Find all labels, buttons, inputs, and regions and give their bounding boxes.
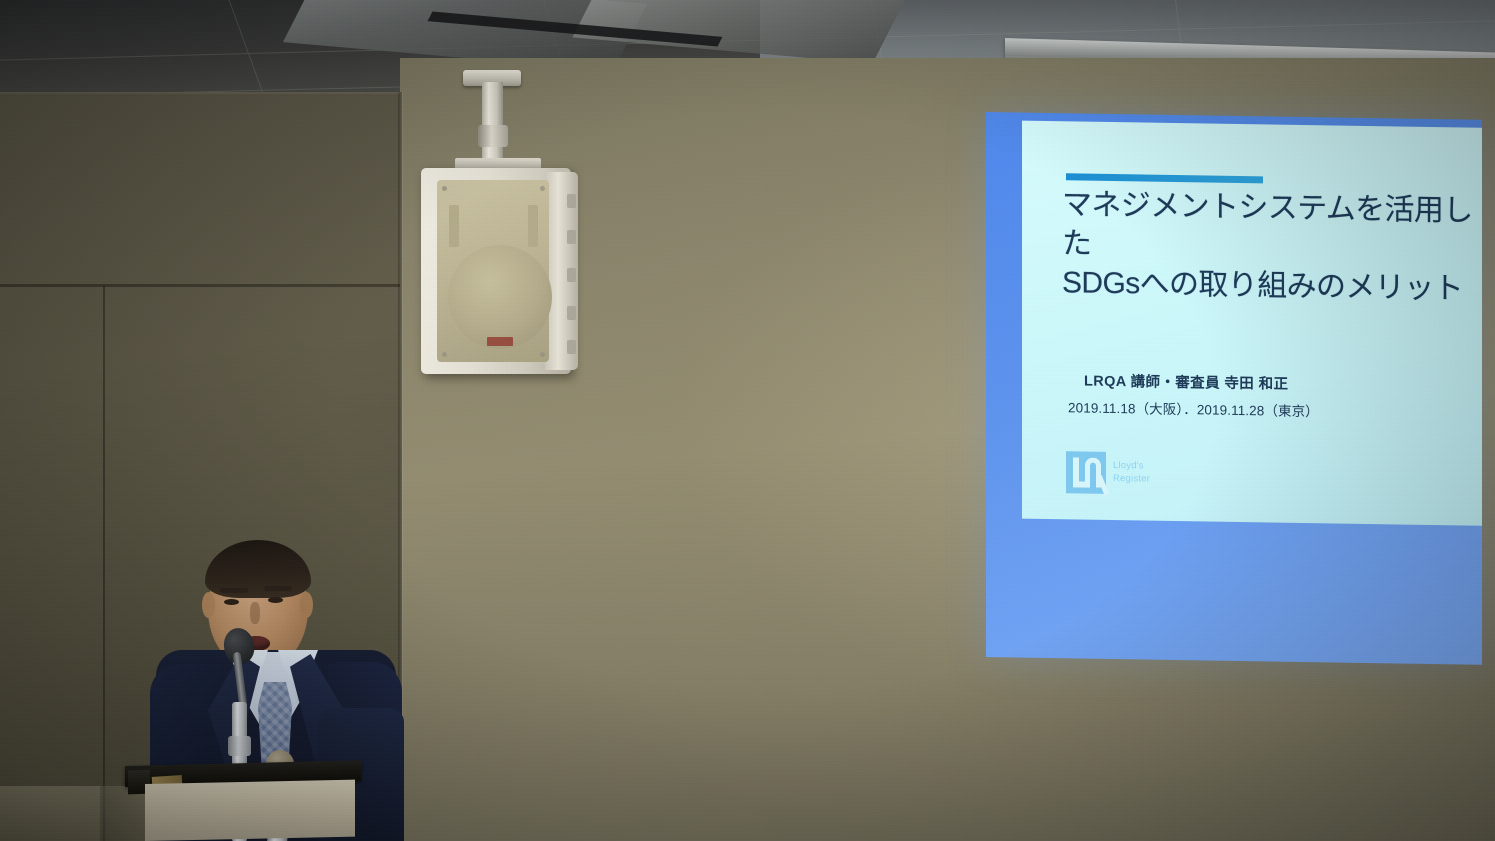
pa-speaker-port: [449, 205, 459, 247]
presenter-ear-right: [300, 592, 313, 618]
speaker-mount-pole: [482, 82, 503, 164]
slide-dates-line: 2019.11.18（大阪）．2019.11.28（東京）: [1068, 396, 1319, 420]
speaker-screw: [540, 352, 545, 357]
slide-accent-rule: [1066, 173, 1263, 183]
microphone-stand-joint: [228, 736, 251, 756]
speaker-screw: [540, 186, 545, 191]
slide-title-line1: マネジメントシステムを活用した: [1062, 188, 1473, 260]
slide-card: マネジメントシステムを活用した SDGsへの取り組みのメリット LRQA 講師・…: [1022, 121, 1482, 526]
pa-speaker-woofer-cone: [448, 245, 552, 349]
wall-panel-seam: [103, 286, 105, 841]
speaker-mount-joint: [478, 125, 508, 147]
presenter-eyebrow-left: [220, 588, 248, 593]
pa-speaker-brand-logo: [487, 337, 513, 346]
presentation-photo: マネジメントシステムを活用した SDGsへの取り組みのメリット LRQA 講師・…: [0, 0, 1495, 841]
lr-monogram-icon: [1066, 451, 1106, 494]
presenter-nose: [250, 602, 260, 624]
logo-name-line2: Register: [1113, 473, 1150, 486]
pa-speaker-port: [528, 205, 538, 247]
presenter-ear-left: [202, 592, 215, 618]
speaker-screw: [442, 186, 447, 191]
presenter-eyebrow-right: [264, 586, 292, 591]
slide-title-line2: SDGsへの取り組みのメリット: [1062, 263, 1474, 308]
projected-screen: マネジメントシステムを活用した SDGsへの取り組みのメリット LRQA 講師・…: [986, 112, 1482, 665]
speaker-screw: [442, 352, 447, 357]
wall-panel-seam: [0, 92, 400, 94]
slide-presenter-line: LRQA 講師・審査員 寺田 和正: [1084, 370, 1288, 394]
lloyds-register-logo: Lloyd's Register: [1066, 451, 1106, 494]
presenter-eye-left: [224, 599, 239, 605]
slide-title: マネジメントシステムを活用した SDGsへの取り組みのメリット: [1062, 185, 1474, 308]
presenter-eye-right: [268, 597, 283, 603]
lr-r-glyph: [1085, 458, 1101, 488]
logo-name-line1: Lloyd's: [1113, 460, 1150, 473]
wall-panel-seam: [0, 284, 400, 287]
pa-speaker-side-panel: [545, 172, 578, 370]
lloyds-register-wordmark: Lloyd's Register: [1113, 460, 1150, 486]
lectern: [145, 780, 355, 841]
